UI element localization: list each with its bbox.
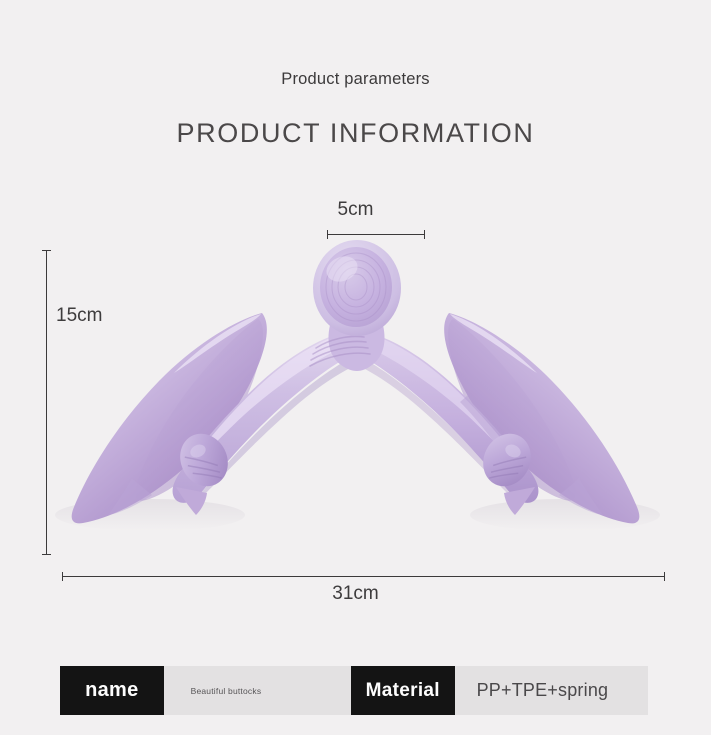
page-subtitle: Product parameters: [0, 70, 711, 89]
spec-value-name: Beautiful buttocks: [164, 666, 351, 715]
dimension-line-width-bottom: [62, 576, 665, 577]
page-title: PRODUCT INFORMATION: [0, 118, 711, 149]
product-information-page: Product parameters PRODUCT INFORMATION 5…: [0, 0, 711, 735]
spec-value-material: PP+TPE+spring: [455, 666, 648, 715]
product-image: [0, 215, 711, 560]
disc-face: [320, 247, 392, 327]
spec-key-material: Material: [351, 666, 455, 715]
spec-key-name: name: [60, 666, 164, 715]
spec-table: name Beautiful buttocks Material PP+TPE+…: [60, 666, 648, 715]
dimension-label-width-bottom: 31cm: [0, 583, 711, 605]
